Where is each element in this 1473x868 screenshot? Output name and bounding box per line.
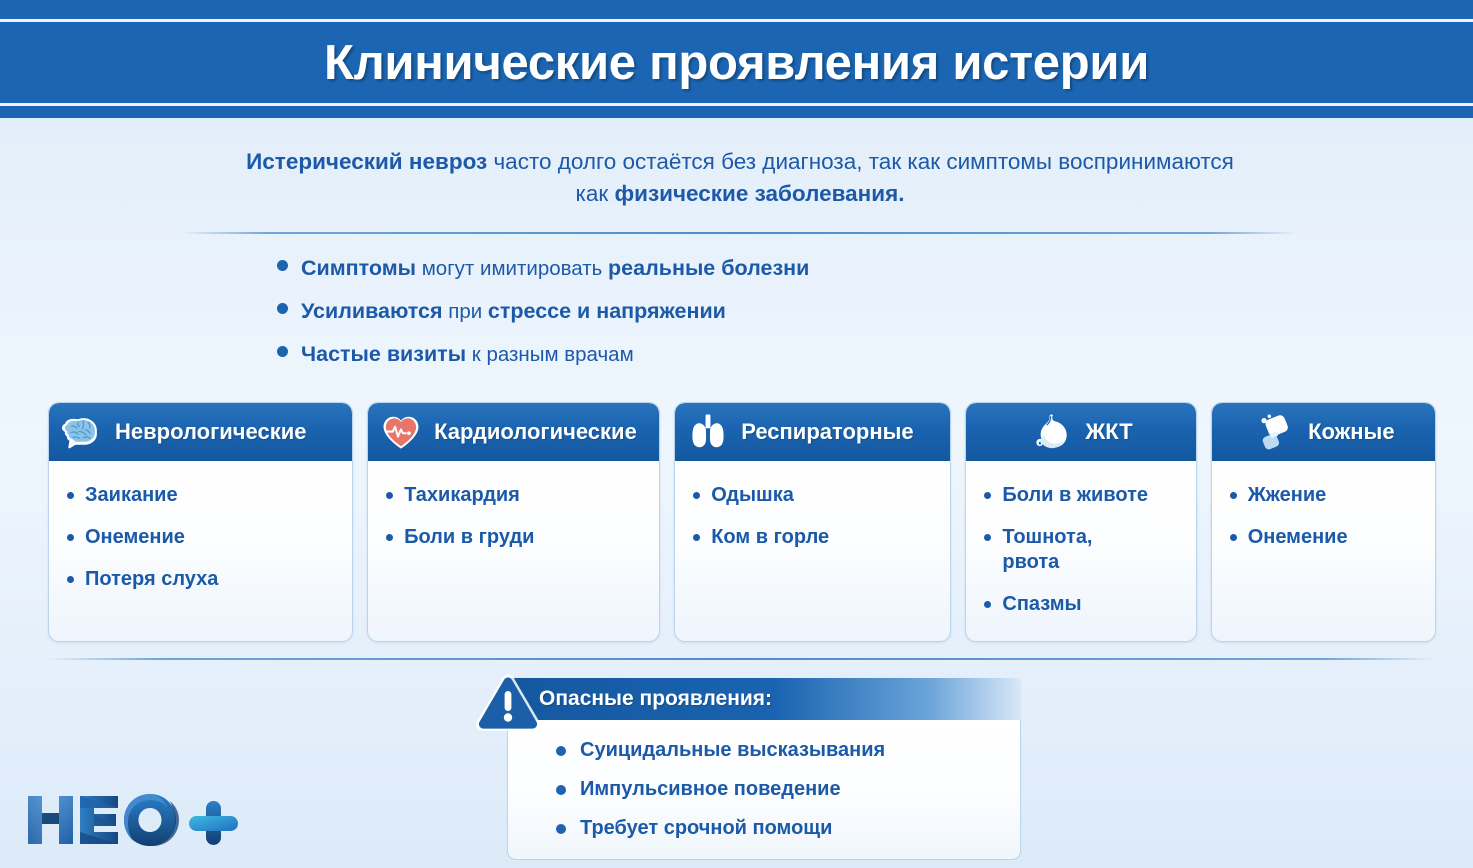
card-item-label: Жжение — [1248, 483, 1327, 508]
card-header: Респираторные — [675, 403, 950, 461]
list-item: Суицидальные высказывания — [556, 738, 1020, 763]
bullet-dot-icon — [386, 534, 393, 541]
lead-bold-2: стрессе и напряжении — [488, 299, 726, 323]
list-item: Заикание — [67, 483, 338, 508]
card-respiratory: Респираторные Одышка Ком в горле — [674, 402, 951, 642]
lead-bold-1: Частые визиты — [301, 342, 466, 366]
card-item-label: Боли в животе — [1002, 483, 1148, 508]
lead-bullet-list: Симптомы могут имитировать реальные боле… — [277, 254, 1177, 383]
card-title: Кожные — [1308, 419, 1395, 445]
list-item: Жжение — [1230, 483, 1421, 508]
heart-ecg-icon — [380, 411, 422, 453]
bullet-dot-icon — [693, 534, 700, 541]
intro-paragraph: Истерический невроз часто долго остаётся… — [150, 146, 1330, 210]
list-item: Одышка — [693, 483, 936, 508]
card-neurological: Неврологические Заикание Онемение Потеря… — [48, 402, 353, 642]
card-header: Неврологические — [49, 403, 352, 461]
card-item-label: Онемение — [85, 525, 185, 550]
list-item: Боли в груди — [386, 525, 645, 550]
divider-top — [180, 232, 1298, 234]
skin-patch-icon — [1254, 411, 1296, 453]
header-rule-bottom — [0, 103, 1473, 106]
card-item-label: Онемение — [1248, 525, 1348, 550]
neo-plus-logo — [22, 790, 262, 850]
bullet-dot-icon — [386, 492, 393, 499]
header-rule-top — [0, 19, 1473, 22]
bullet-dot-icon — [693, 492, 700, 499]
logo-letter-o — [124, 794, 179, 846]
logo-letter-n — [28, 796, 73, 844]
danger-item-label: Суицидальные высказывания — [580, 738, 885, 763]
card-item-label: Ком в горле — [711, 525, 829, 550]
danger-item-label: Импульсивное поведение — [580, 777, 841, 802]
symptom-category-cards: Неврологические Заикание Онемение Потеря… — [48, 402, 1436, 642]
intro-bold-tail: физические заболевания. — [614, 181, 904, 206]
bullet-dot-icon — [67, 534, 74, 541]
list-item: Потеря слуха — [67, 567, 338, 592]
card-body: Одышка Ком в горле — [675, 461, 950, 641]
danger-callout: Опасные проявления: Суицидальные высказы… — [465, 678, 1021, 860]
page-header: Клинические проявления истерии — [0, 0, 1473, 118]
intro-plain-1: часто долго остаётся без диагноза, так к… — [487, 149, 1234, 174]
lead-item-text: Частые визиты к разным врачам — [301, 340, 634, 369]
intro-plain-2: как — [576, 181, 615, 206]
bullet-dot-icon — [556, 785, 566, 795]
card-title: Респираторные — [741, 419, 913, 445]
list-item: Усиливаются при стрессе и напряжении — [277, 297, 1177, 326]
bullet-dot-icon — [556, 824, 566, 834]
list-item: Ком в горле — [693, 525, 936, 550]
intro-line-2: как физические заболевания. — [150, 178, 1330, 210]
bullet-dot-icon — [67, 492, 74, 499]
list-item: Онемение — [67, 525, 338, 550]
bullet-dot-icon — [277, 346, 288, 357]
card-header: ЖКТ — [966, 403, 1195, 461]
logo-plus-icon — [189, 801, 238, 845]
card-body: Боли в животе Тошнота, рвота Спазмы — [966, 461, 1195, 642]
bullet-dot-icon — [984, 534, 991, 541]
list-item: Онемение — [1230, 525, 1421, 550]
danger-callout-title: Опасные проявления: — [539, 687, 772, 711]
list-item: Тошнота, рвота — [984, 525, 1181, 575]
logo-letter-e — [80, 796, 118, 844]
lead-item-text: Усиливаются при стрессе и напряжении — [301, 297, 726, 326]
warning-triangle-icon — [465, 668, 551, 738]
card-item-label: Боли в груди — [404, 525, 534, 550]
card-body: Жжение Онемение — [1212, 461, 1435, 641]
card-item-label: Потеря слуха — [85, 567, 218, 592]
list-item: Импульсивное поведение — [556, 777, 1020, 802]
card-gastrointestinal: ЖКТ Боли в животе Тошнота, рвота Спазмы — [965, 402, 1196, 642]
card-item-label: Заикание — [85, 483, 178, 508]
card-header: Кардиологические — [368, 403, 659, 461]
card-header: Кожные — [1212, 403, 1435, 461]
lead-plain: могут имитировать — [416, 257, 608, 280]
card-body: Заикание Онемение Потеря слуха — [49, 461, 352, 641]
lungs-icon — [687, 411, 729, 453]
card-cardiological: Кардиологические Тахикардия Боли в груди — [367, 402, 660, 642]
danger-item-label: Требует срочной помощи — [580, 816, 832, 841]
intro-line-1: Истерический невроз часто долго остаётся… — [150, 146, 1330, 178]
danger-callout-body: Суицидальные высказывания Импульсивное п… — [507, 720, 1021, 860]
lead-bold-1: Симптомы — [301, 256, 416, 280]
card-title: Кардиологические — [434, 419, 637, 445]
bullet-dot-icon — [67, 576, 74, 583]
bullet-dot-icon — [984, 492, 991, 499]
divider-bottom — [48, 658, 1436, 660]
bullet-dot-icon — [277, 260, 288, 271]
bullet-dot-icon — [1230, 534, 1237, 541]
card-dermatological: Кожные Жжение Онемение — [1211, 402, 1436, 642]
list-item: Требует срочной помощи — [556, 816, 1020, 841]
lead-bold-1: Усиливаются — [301, 299, 443, 323]
list-item: Частые визиты к разным врачам — [277, 340, 1177, 369]
card-item-label: Тахикардия — [404, 483, 520, 508]
card-item-label: Одышка — [711, 483, 794, 508]
brain-icon — [61, 411, 103, 453]
bullet-dot-icon — [1230, 492, 1237, 499]
bullet-dot-icon — [984, 601, 991, 608]
card-title: Неврологические — [115, 419, 307, 445]
card-title: ЖКТ — [1085, 419, 1132, 445]
page-title: Клинические проявления истерии — [0, 24, 1473, 102]
list-item: Симптомы могут имитировать реальные боле… — [277, 254, 1177, 283]
danger-callout-header: Опасные проявления: — [507, 678, 1021, 720]
card-body: Тахикардия Боли в груди — [368, 461, 659, 641]
bullet-dot-icon — [556, 746, 566, 756]
bullet-dot-icon — [277, 303, 288, 314]
stomach-icon — [1031, 411, 1073, 453]
intro-bold-lead: Истерический невроз — [246, 149, 487, 174]
list-item: Тахикардия — [386, 483, 645, 508]
lead-plain: к разным врачам — [466, 343, 634, 366]
list-item: Боли в животе — [984, 483, 1181, 508]
lead-bold-2: реальные болезни — [608, 256, 809, 280]
lead-item-text: Симптомы могут имитировать реальные боле… — [301, 254, 809, 283]
card-item-label: Спазмы — [1002, 592, 1081, 617]
lead-plain: при — [443, 300, 488, 323]
card-item-label: Тошнота, рвота — [1002, 525, 1092, 575]
list-item: Спазмы — [984, 592, 1181, 617]
